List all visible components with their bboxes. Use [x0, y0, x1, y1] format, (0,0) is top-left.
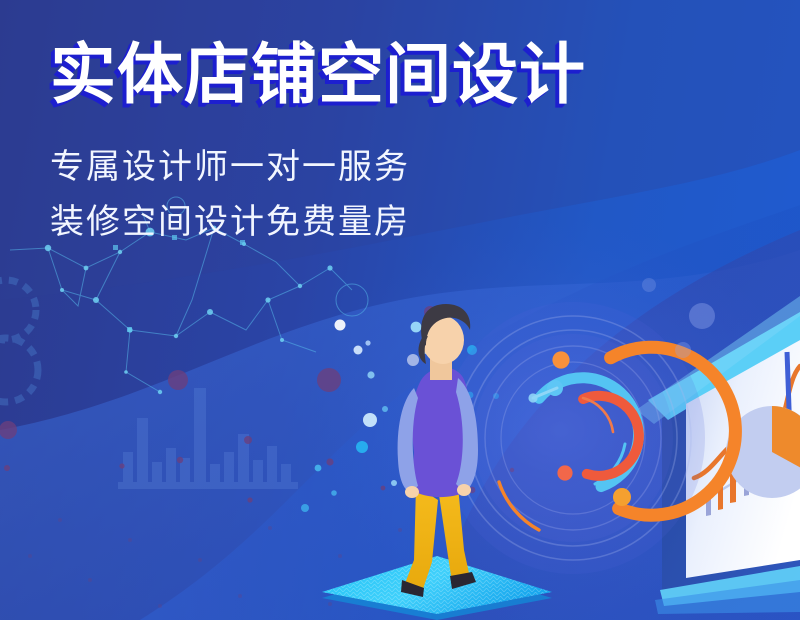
promo-banner: 实体店铺空间设计 专属设计师一对一服务 装修空间设计免费量房: [0, 0, 800, 620]
figure-hand-right: [457, 484, 471, 496]
figure-hand-left: [405, 486, 419, 498]
subtitle-line-2: 装修空间设计免费量房: [50, 195, 586, 250]
standing-person-illustration: [398, 304, 478, 597]
isometric-grid-platform: [322, 556, 552, 620]
subtitle-line-1: 专属设计师一对一服务: [50, 140, 586, 195]
headline-block: 实体店铺空间设计 专属设计师一对一服务 装修空间设计免费量房: [50, 36, 586, 250]
subtitle-group: 专属设计师一对一服务 装修空间设计免费量房: [50, 140, 586, 250]
page-title: 实体店铺空间设计: [50, 36, 586, 114]
